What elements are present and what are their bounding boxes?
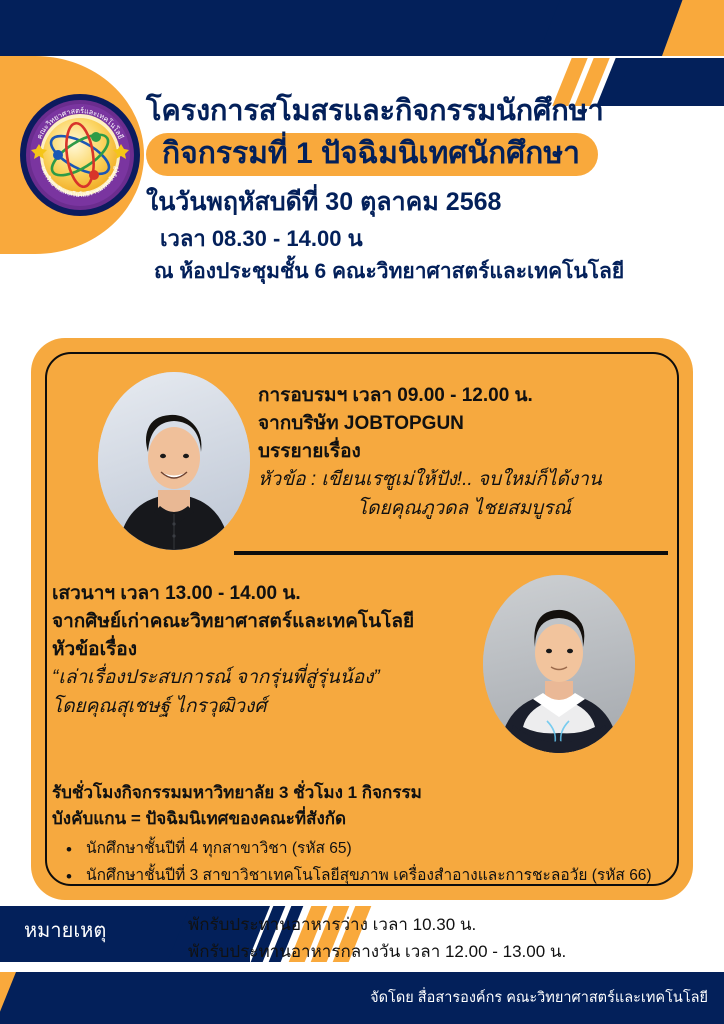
- session-1-line-1: การอบรมฯ เวลา 09.00 - 12.00 น.: [258, 382, 670, 410]
- credit-hours-line-1: รับชั่วโมงกิจกรรมมหาวิทยาลัย 3 ชั่วโมง 1…: [52, 780, 682, 806]
- session-2-line-3: หัวข้อเรื่อง: [52, 636, 482, 664]
- event-time: เวลา 08.30 - 14.00 น: [160, 223, 712, 255]
- faculty-logo-icon: คณะวิทยาศาสตร์และเทคโนโลยี มหาวิทยาลัยเท…: [18, 93, 142, 217]
- session-2-line-2: จากศิษย์เก่าคณะวิทยาศาสตร์และเทคโนโลยี: [52, 608, 482, 636]
- speaker-1-photo: [98, 372, 250, 550]
- speaker-2-photo: [483, 575, 635, 753]
- session-2-topic: “เล่าเรื่องประสบการณ์ จากรุ่นพี่สู่รุ่นน…: [52, 664, 482, 693]
- organizer-credit: จัดโดย สื่อสารองค์กร คณะวิทยาศาสตร์และเท…: [370, 986, 708, 1009]
- header-text-block: โครงการสโมสรและกิจกรรมนักศึกษา กิจกรรมที…: [146, 96, 712, 287]
- activity-title-pill: กิจกรรมที่ 1 ปัจฉิมนิเทศนักศึกษา: [146, 133, 598, 177]
- list-item: นักศึกษาชั้นปีที่ 3 สาขาวิชาเทคโนโลยีสุข…: [52, 863, 682, 890]
- section-divider: [234, 551, 668, 555]
- event-venue: ณ ห้องประชุมชั้น 6 คณะวิทยาศาสตร์และเทคโ…: [154, 257, 712, 287]
- credit-hours-block: รับชั่วโมงกิจกรรมมหาวิทยาลัย 3 ชั่วโมง 1…: [52, 780, 682, 889]
- activity-title: กิจกรรมที่ 1 ปัจฉิมนิเทศนักศึกษา: [162, 137, 580, 171]
- eligibility-list: นักศึกษาชั้นปีที่ 4 ทุกสาขาวิชา (รหัส 65…: [52, 836, 682, 889]
- session-2-line-1: เสวนาฯ เวลา 13.00 - 14.00 น.: [52, 580, 482, 608]
- footer-note-line-2: พักรับประทานอาหารกลางวัน เวลา 12.00 - 13…: [188, 939, 708, 966]
- session-2-speaker: โดยคุณสุเชษฐ์ ไกรวุฒิวงศ์: [52, 693, 482, 722]
- session-2-text: เสวนาฯ เวลา 13.00 - 14.00 น. จากศิษย์เก่…: [52, 580, 482, 721]
- event-date: ในวันพฤหัสบดีที่ 30 ตุลาคม 2568: [146, 184, 712, 220]
- session-1-line-3: บรรยายเรื่อง: [258, 438, 670, 466]
- credit-hours-line-2: บังคับแกน = ปัจฉิมนิเทศของคณะที่สังกัด: [52, 806, 682, 832]
- list-item: นักศึกษาชั้นปีที่ 4 ทุกสาขาวิชา (รหัส 65…: [52, 836, 682, 863]
- poster-root: คณะวิทยาศาสตร์และเทคโนโลยี มหาวิทยาลัยเท…: [0, 0, 724, 1024]
- session-1-topic: หัวข้อ : เขียนเรซูเม่ให้ปัง!.. จบใหม่ก็ไ…: [258, 466, 670, 495]
- session-1-text: การอบรมฯ เวลา 09.00 - 12.00 น. จากบริษัท…: [258, 382, 670, 523]
- footer-note-line-1: พักรับประทานอาหารว่าง เวลา 10.30 น.: [188, 912, 708, 939]
- session-1-line-2: จากบริษัท JOBTOPGUN: [258, 410, 670, 438]
- session-1-speaker: โดยคุณภูวดล ไชยสมบูรณ์: [258, 495, 670, 524]
- footer-note-text: พักรับประทานอาหารว่าง เวลา 10.30 น. พักร…: [188, 912, 708, 966]
- project-title: โครงการสโมสรและกิจกรรมนักศึกษา: [146, 96, 712, 128]
- footer-note-label: หมายเหตุ: [24, 919, 106, 943]
